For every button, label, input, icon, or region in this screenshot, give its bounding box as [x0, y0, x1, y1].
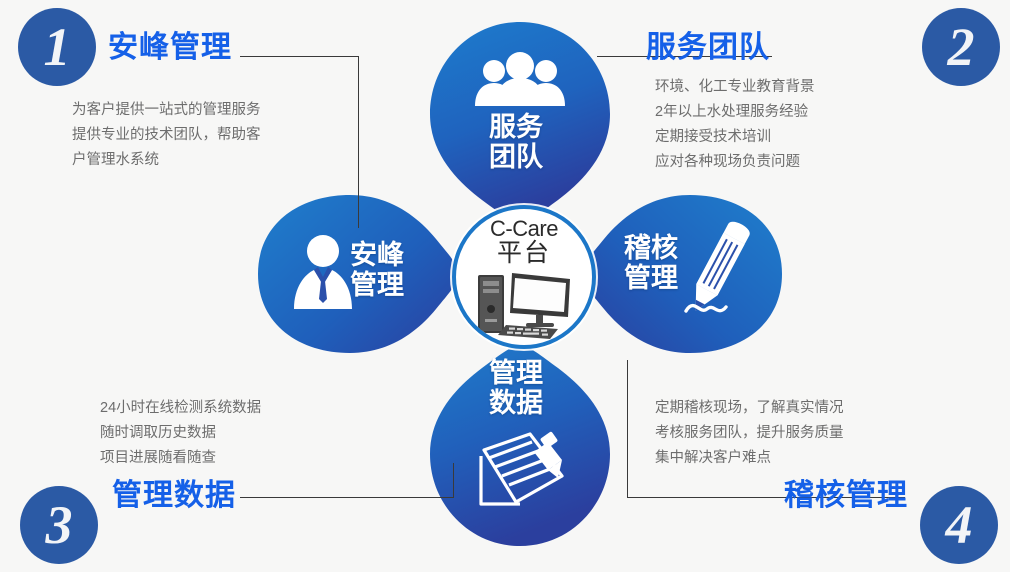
desktop-computer-icon [476, 269, 574, 346]
hub-subtitle: 平台 [456, 240, 592, 266]
connector-line-4-vertical [627, 360, 628, 497]
connector-line-1-horizontal [240, 56, 359, 57]
connector-line-3-horizontal [240, 497, 454, 498]
hub-title: C-Care [456, 217, 592, 241]
section-heading-3: 管理数据 [112, 470, 236, 514]
step-badge-1[interactable]: 1 [18, 8, 96, 86]
clipboard-pencil-icon [476, 424, 570, 510]
section-heading-2: 服务团队 [646, 22, 770, 66]
petal-label-anfeng: 安峰 管理 [350, 240, 404, 300]
connector-line-1-vertical [358, 56, 359, 228]
petal-label-manage-data: 管理 数据 [489, 358, 543, 418]
connector-line-3-vertical [453, 463, 454, 498]
section-heading-1: 安峰管理 [108, 22, 232, 66]
section-body-3: 24小时在线检测系统数据 随时调取历史数据 项目进展随看随查 [100, 396, 261, 471]
pencil-signature-icon [680, 219, 758, 329]
section-heading-4: 稽核管理 [784, 470, 908, 514]
step-badge-2[interactable]: 2 [922, 8, 1000, 86]
person-suit-icon [292, 233, 354, 309]
petal-label-audit: 稽核 管理 [624, 233, 678, 293]
petal-label-service-team: 服务 团队 [489, 112, 543, 172]
section-body-4: 定期稽核现场，了解真实情况 考核服务团队，提升服务质量 集中解决客户难点 [655, 396, 844, 471]
people-group-icon [470, 54, 570, 106]
step-badge-3[interactable]: 3 [20, 486, 98, 564]
infographic-canvas: 服务 团队 稽核 管理 管理 数据 安峰 管理 C-Care 平台 [0, 0, 1010, 572]
center-hub-ccare-platform[interactable]: C-Care 平台 [452, 205, 596, 349]
petal-audit-management[interactable] [582, 195, 782, 353]
section-body-2: 环境、化工专业教育背景 2年以上水处理服务经验 定期接受技术培训 应对各种现场负… [655, 75, 815, 175]
section-body-1: 为客户提供一站式的管理服务 提供专业的技术团队，帮助客 户管理水系统 [72, 98, 261, 173]
step-badge-4[interactable]: 4 [920, 486, 998, 564]
